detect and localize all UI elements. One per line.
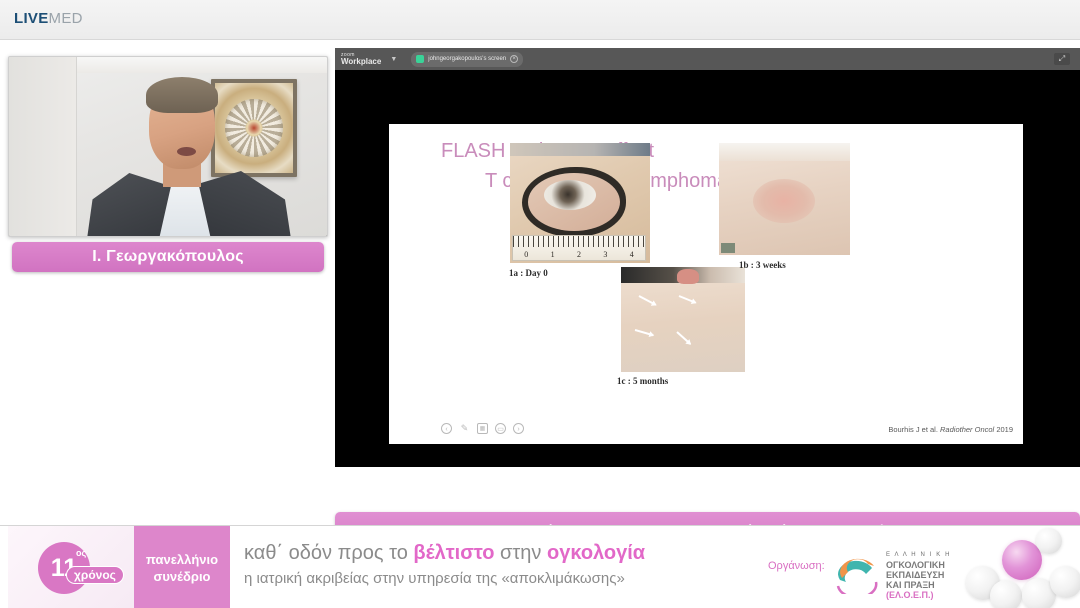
- wall-edge: [9, 57, 77, 237]
- clinical-photo-day0: 0 1 2 3 4: [510, 143, 650, 263]
- org-line0: Ε Λ Λ Η Ν Ι Κ Η: [886, 550, 951, 560]
- share-source-tab[interactable]: johngeorgakopoulos's screen ×: [411, 52, 523, 67]
- ruler-tick: 1: [551, 250, 555, 259]
- photo-caption-b: 1b : 3 weeks: [739, 260, 786, 270]
- share-tab-label: johngeorgakopoulos's screen: [428, 56, 506, 62]
- anniversary-word: χρόνος: [66, 566, 124, 584]
- pen-icon[interactable]: ✎: [459, 423, 470, 434]
- photo-caption-c: 1c : 5 months: [617, 376, 668, 386]
- speaker-video-feed[interactable]: [8, 56, 328, 237]
- zoom-workplace-brand: zoom Workplace: [341, 53, 381, 66]
- org-line3: ΚΑΙ ΠΡΑΞΗ: [886, 580, 951, 590]
- org-line1: ΟΓΚΟΛΟΓΙΚΗ: [886, 560, 951, 570]
- previous-slide-icon[interactable]: ‹: [441, 423, 452, 434]
- framed-artwork: [211, 79, 297, 177]
- speaker-hair: [146, 77, 218, 113]
- presentation-slide: FLASH anti tumor effect T cell cutaneous…: [389, 124, 1023, 444]
- ruler-tick: 4: [630, 250, 634, 259]
- citation-year: 2019: [996, 425, 1013, 434]
- citation-journal: Radiother Oncol: [940, 425, 994, 434]
- chevron-down-icon[interactable]: ▼: [390, 56, 397, 63]
- speaker-name-banner: Ι. Γεωργακόπουλος: [12, 242, 324, 272]
- speaker-mouth: [177, 147, 196, 156]
- clinical-photo-3weeks: [719, 143, 850, 255]
- clinical-photo-5months: [621, 267, 745, 372]
- decorative-spheres: [960, 526, 1080, 608]
- tagline-part1: καθ΄ οδόν προς το: [244, 542, 413, 564]
- close-icon[interactable]: ×: [510, 55, 518, 63]
- logo-live-text: LIVE: [14, 10, 49, 27]
- congress-tagline: καθ΄ οδόν προς το βέλτιστο στην ογκολογί…: [244, 542, 645, 587]
- logo-med-text: MED: [49, 10, 83, 27]
- congress-line1: πανελλήνιο: [146, 552, 218, 567]
- tagline-part2: στην: [495, 542, 547, 564]
- ruler-tick: 2: [577, 250, 581, 259]
- presentation-controls: ‹ ✎ ▦ ▭ ›: [441, 423, 524, 434]
- anniversary-suffix: ος: [76, 548, 86, 558]
- tagline-highlight2: ογκολογία: [547, 542, 645, 564]
- screen-share-window: zoom Workplace ▼ johngeorgakopoulos's sc…: [335, 48, 1080, 467]
- eloep-logo-text: Ε Λ Λ Η Ν Ι Κ Η ΟΓΚΟΛΟΓΙΚΗ ΕΚΠΑΙΔΕΥΣΗ ΚΑ…: [886, 550, 951, 600]
- page-root: LIVEMED Ι. Γεωργακόπουλος: [0, 0, 1080, 608]
- congress-line2: συνέδριο: [153, 569, 210, 584]
- photo-caption-a: 1a : Day 0: [509, 268, 548, 278]
- slide-grid-icon[interactable]: ▦: [477, 423, 488, 434]
- slide-citation: Bourhis J et al. Radiother Oncol 2019: [888, 425, 1013, 434]
- screen-share-icon: [416, 55, 424, 63]
- tagline-highlight1: βέλτιστο: [413, 542, 494, 564]
- caption-icon[interactable]: ▭: [495, 423, 506, 434]
- organizer-label: Οργάνωση:: [768, 560, 825, 572]
- expand-icon[interactable]: ⤢: [1054, 53, 1070, 65]
- main-stage: Ι. Γεωργακόπουλος zoom Workplace ▼ johng…: [0, 40, 1080, 525]
- ruler-tick: 3: [603, 250, 607, 259]
- footer-bar: 11 ος χρόνος πανελλήνιο συνέδριο καθ΄ οδ…: [0, 525, 1080, 608]
- congress-label: πανελλήνιο συνέδριο: [134, 526, 230, 608]
- citation-author: Bourhis J et al.: [888, 425, 938, 434]
- next-slide-icon[interactable]: ›: [513, 423, 524, 434]
- anniversary-badge: 11 ος χρόνος: [8, 526, 134, 608]
- top-header: LIVEMED: [0, 0, 1080, 40]
- eloep-logo-icon: [832, 552, 882, 594]
- livemed-logo: LIVEMED: [14, 10, 83, 27]
- share-letterbox: FLASH anti tumor effect T cell cutaneous…: [335, 70, 1080, 467]
- zoom-brand-bottom: Workplace: [341, 58, 381, 66]
- org-line2: ΕΚΠΑΙΔΕΥΣΗ: [886, 570, 951, 580]
- org-line4: (ΕΛ.Ο.Ε.Π.): [886, 590, 951, 600]
- tagline-subtitle: η ιατρική ακριβείας στην υπηρεσία της «α…: [244, 570, 645, 587]
- speaker-name-text: Ι. Γεωργακόπουλος: [92, 248, 244, 266]
- ruler-tick: 0: [524, 250, 528, 259]
- zoom-toolbar: zoom Workplace ▼ johngeorgakopoulos's sc…: [335, 48, 1080, 70]
- ruler-scale: 0 1 2 3 4: [512, 235, 646, 261]
